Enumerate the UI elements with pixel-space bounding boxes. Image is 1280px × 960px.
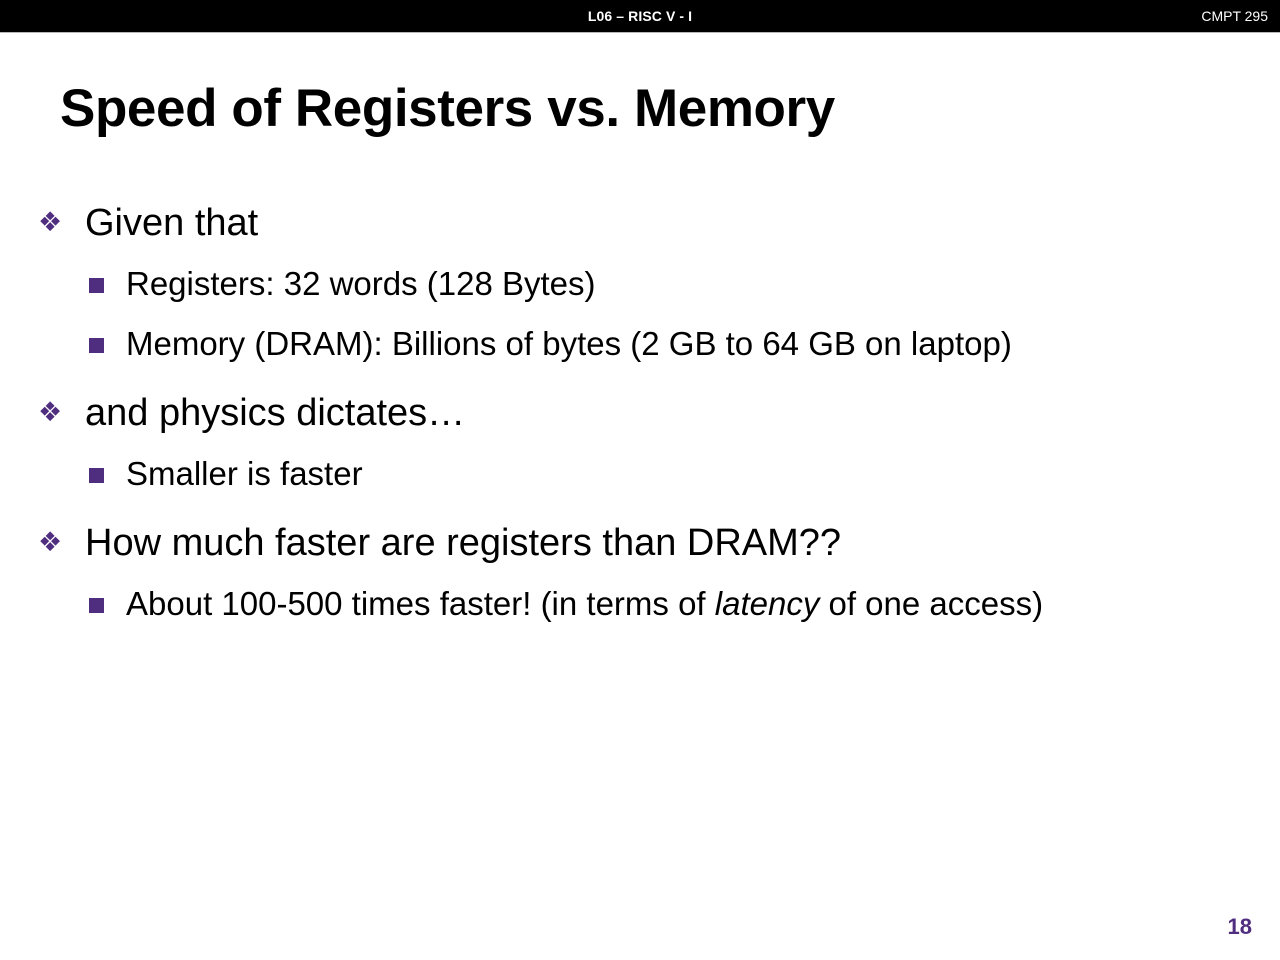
list-item-label: Smaller is faster bbox=[126, 455, 363, 492]
list-item-label: and physics dictates… bbox=[85, 392, 465, 434]
slide-body: ❖ Given that Registers: 32 words (128 By… bbox=[0, 192, 1280, 634]
list-item: About 100-500 times faster! (in terms of… bbox=[0, 574, 1280, 634]
list-item-label: Registers: 32 words (128 Bytes) bbox=[126, 265, 596, 302]
list-item-label: How much faster are registers than DRAM?… bbox=[85, 522, 841, 564]
list-item-label-emphasis: latency bbox=[715, 585, 820, 622]
square-bullet-icon bbox=[89, 338, 104, 353]
page-number: 18 bbox=[1228, 914, 1252, 940]
list-item: Registers: 32 words (128 Bytes) bbox=[0, 254, 1280, 314]
page-title: Speed of Registers vs. Memory bbox=[60, 78, 835, 139]
diamond-bullet-icon: ❖ bbox=[38, 192, 62, 254]
diamond-bullet-icon: ❖ bbox=[38, 382, 62, 444]
list-item: Memory (DRAM): Billions of bytes (2 GB t… bbox=[0, 314, 1280, 374]
list-item-label-suffix: of one access) bbox=[819, 585, 1043, 622]
diamond-bullet-icon: ❖ bbox=[38, 512, 62, 574]
list-item: ❖ and physics dictates… bbox=[0, 382, 1280, 444]
list-item-label-prefix: About 100-500 times faster! (in terms of bbox=[126, 585, 715, 622]
square-bullet-icon bbox=[89, 598, 104, 613]
course-code: CMPT 295 bbox=[1201, 0, 1268, 33]
list-item: Smaller is faster bbox=[0, 444, 1280, 504]
list-item-label: Memory (DRAM): Billions of bytes (2 GB t… bbox=[126, 325, 1012, 362]
square-bullet-icon bbox=[89, 278, 104, 293]
list-item: ❖ Given that bbox=[0, 192, 1280, 254]
lecture-title: L06 – RISC V - I bbox=[0, 0, 1280, 33]
square-bullet-icon bbox=[89, 468, 104, 483]
list-item: ❖ How much faster are registers than DRA… bbox=[0, 512, 1280, 574]
list-item-label: Given that bbox=[85, 202, 258, 244]
slide-header-bar: L06 – RISC V - I CMPT 295 bbox=[0, 0, 1280, 33]
